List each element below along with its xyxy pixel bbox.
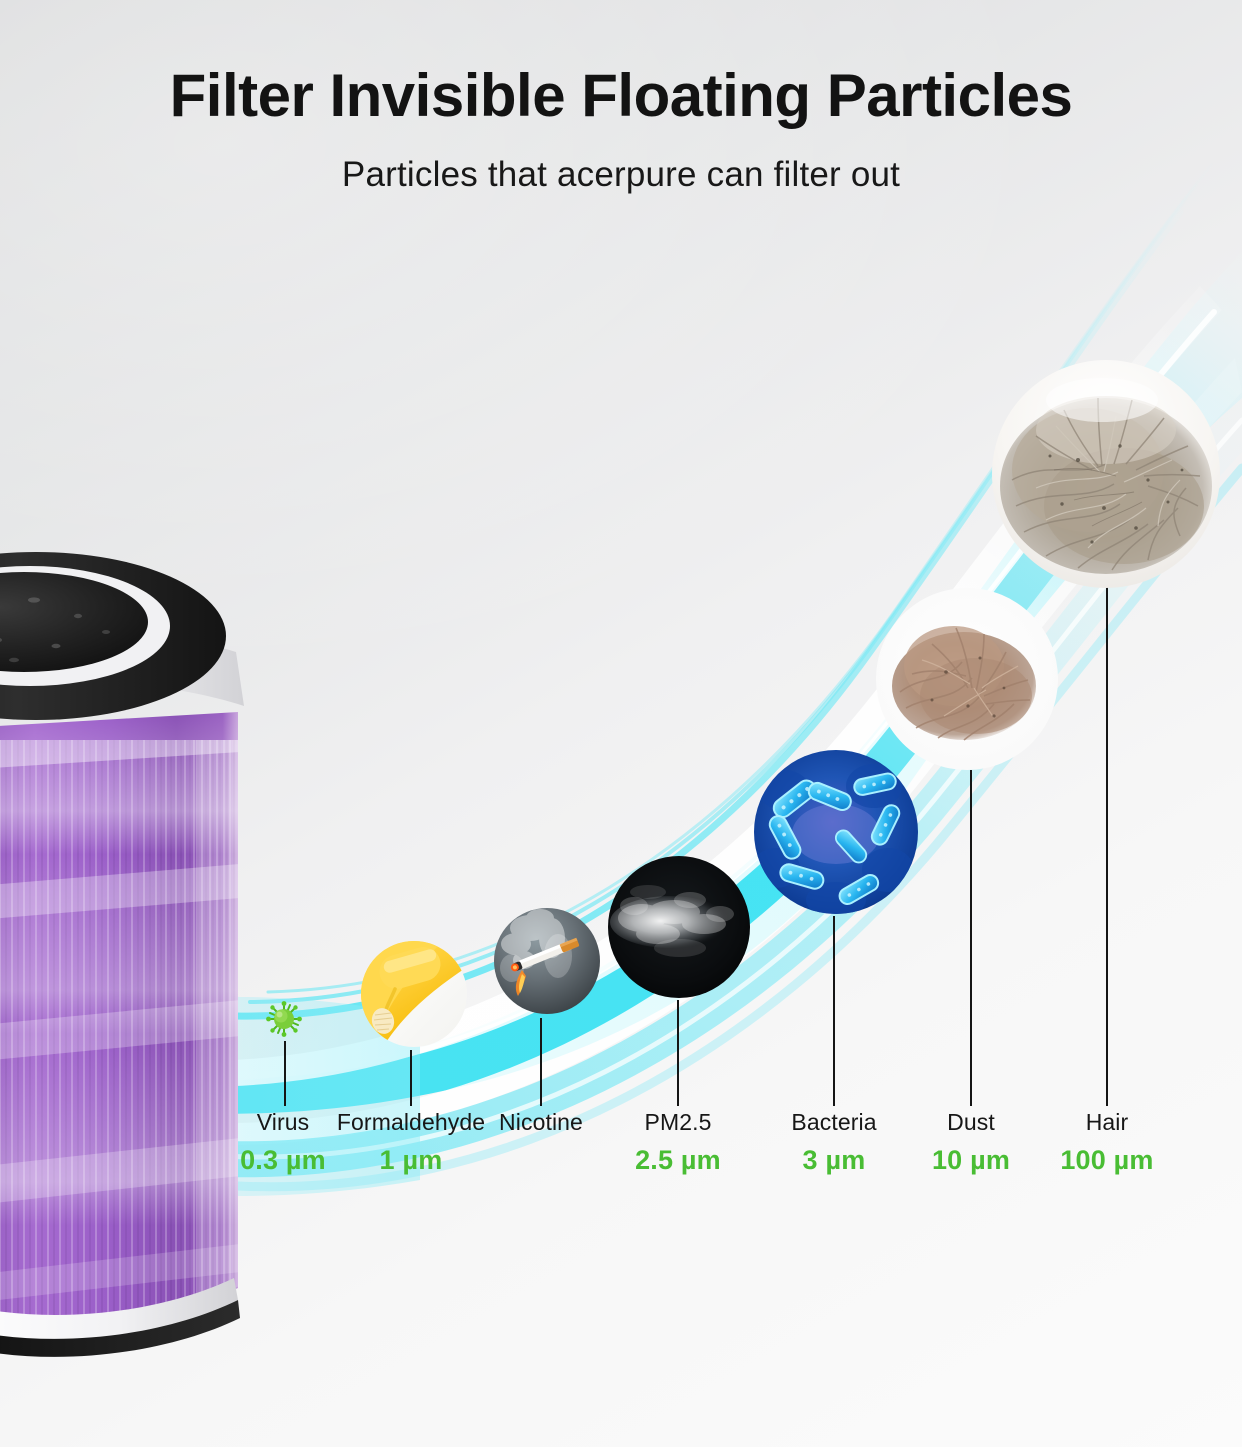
label-group-nicotine: Nicotine (461, 1110, 621, 1146)
label-group-bacteria: Bacteria 3 µm (754, 1110, 914, 1176)
cigarette-icon (494, 908, 600, 1014)
particle-bubble-dust (876, 588, 1058, 770)
paint-roller-icon (361, 941, 467, 1047)
particle-bubble-hair (992, 360, 1220, 588)
page-title: Filter Invisible Floating Particles (0, 62, 1242, 129)
infographic-stage: Filter Invisible Floating Particles Part… (0, 0, 1242, 1447)
particle-bubble-virus (271, 1006, 297, 1032)
particle-labels: Virus 0.3 µm Formaldehyde 1 µm Nicotine … (0, 1110, 1242, 1190)
particle-name-hair: Hair (1027, 1110, 1187, 1135)
page-subtitle: Particles that acerpure can filter out (0, 155, 1242, 195)
leader-lines (0, 0, 1242, 1447)
label-group-hair: Hair 100 µm (1027, 1110, 1187, 1176)
particle-size-formaldehyde: 1 µm (331, 1146, 491, 1176)
particle-name-nicotine: Nicotine (461, 1110, 621, 1135)
particle-bubble-pm25 (608, 856, 750, 998)
particle-bubble-nicotine (494, 908, 600, 1014)
particle-bubble-formaldehyde (361, 941, 467, 1047)
label-group-pm25: PM2.5 2.5 µm (598, 1110, 758, 1176)
particle-size-bacteria: 3 µm (754, 1146, 914, 1176)
dust-icon (876, 588, 1058, 770)
smoke-icon (608, 856, 750, 998)
particle-bubble-bacteria (754, 750, 918, 914)
virus-icon (264, 999, 304, 1039)
particle-size-pm25: 2.5 µm (598, 1146, 758, 1176)
hair-icon (992, 360, 1220, 588)
particle-size-hair: 100 µm (1027, 1146, 1187, 1176)
particle-name-pm25: PM2.5 (598, 1110, 758, 1135)
bacteria-icon (754, 750, 918, 914)
particle-name-bacteria: Bacteria (754, 1110, 914, 1135)
header-block: Filter Invisible Floating Particles Part… (0, 62, 1242, 195)
